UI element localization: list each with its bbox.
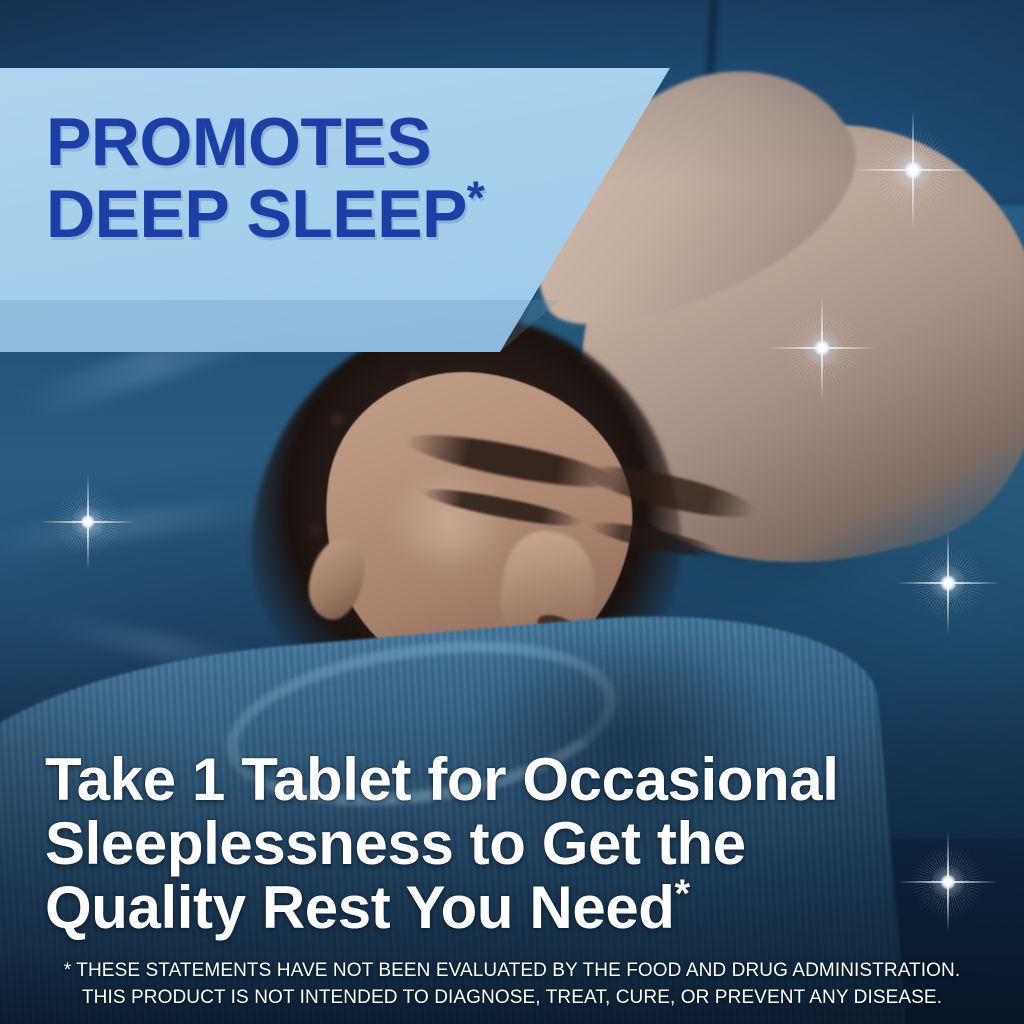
headline-line-1: Take 1 Tablet for Occasional xyxy=(45,748,985,812)
headline-line-3: Quality Rest You Need* xyxy=(45,876,985,940)
headline-line-2: Sleeplessness to Get the xyxy=(45,812,985,876)
banner-headline: PROMOTES DEEP SLEEP* xyxy=(46,106,484,250)
disclaimer-line-2: THIS PRODUCT IS NOT INTENDED TO DIAGNOSE… xyxy=(0,985,1024,1012)
banner-asterisk: * xyxy=(467,171,484,223)
main-headline: Take 1 Tablet for Occasional Sleeplessne… xyxy=(45,748,985,941)
disclaimer-line-1: * THESE STATEMENTS HAVE NOT BEEN EVALUAT… xyxy=(0,958,1024,985)
fda-disclaimer: * THESE STATEMENTS HAVE NOT BEEN EVALUAT… xyxy=(0,958,1024,1012)
banner-line-2: DEEP SLEEP* xyxy=(46,178,484,250)
banner-line-1: PROMOTES xyxy=(46,106,484,178)
ad-creative-canvas: PROMOTES DEEP SLEEP* Take 1 Tablet for O… xyxy=(0,0,1024,1024)
headline-line-3-text: Quality Rest You Need xyxy=(45,874,675,941)
headline-asterisk: * xyxy=(675,872,690,916)
banner-line-2-text: DEEP SLEEP xyxy=(46,176,467,252)
